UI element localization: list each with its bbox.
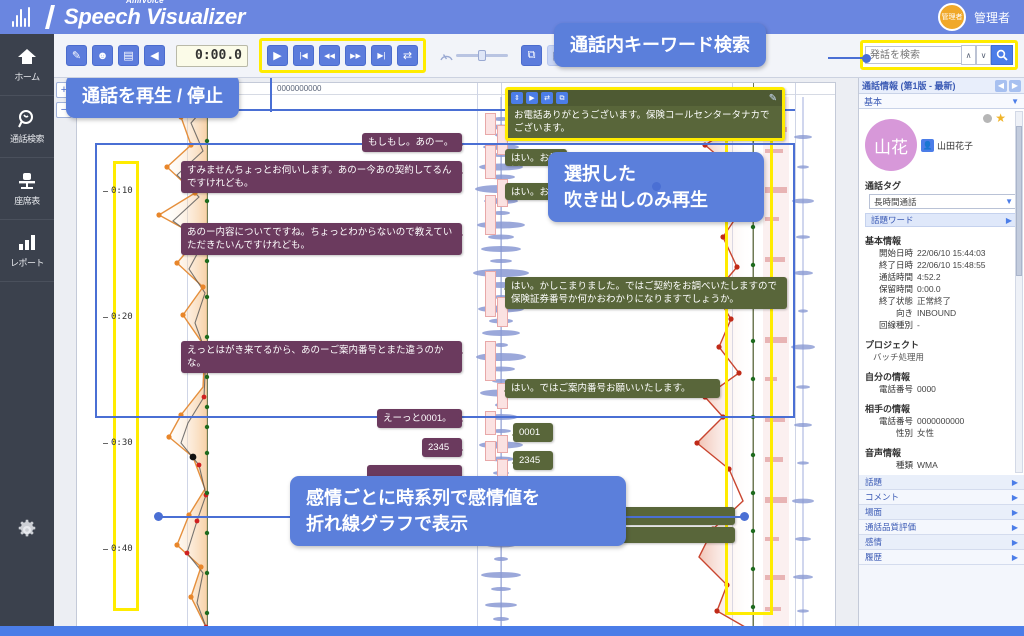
- transcript-bubble-customer[interactable]: あのー内容についてですね。ちょっとわからないので教えていただきたいんですけれども…: [181, 223, 462, 255]
- accordion-label: 場面: [865, 506, 882, 518]
- accordion-label: 感情: [865, 536, 882, 548]
- amivoice-subtitle: AmiVoice: [126, 0, 164, 5]
- search-box: ∧ ∨: [860, 40, 1018, 70]
- app-title: Speech Visualizer: [64, 5, 245, 29]
- bubble-toolbar: ⇕ ▶ ⇄ ⧉ ✎: [508, 90, 782, 106]
- info-key: 通話時間: [865, 271, 917, 283]
- person-chip: 👤 山田花子: [921, 139, 973, 152]
- player-toolbar: ✎ ☻ ▤ ◀ 0:00.0 ▶ |◀ ◀◀ ▶▶ ▶| ⇄ ⧉ ▤ ← → ∧…: [54, 34, 1024, 78]
- sidebar-item-label: レポート: [10, 256, 44, 269]
- bubble-text: 2345: [428, 442, 449, 453]
- chevron-right-icon: ▶: [1012, 553, 1018, 562]
- panel-scrollbar[interactable]: [1015, 111, 1023, 473]
- loop-bubble-button[interactable]: ⇄: [541, 92, 553, 104]
- volume-icon: [439, 49, 454, 63]
- basic-info-title: 基本情報: [865, 234, 1018, 247]
- search-next-button[interactable]: ∨: [976, 45, 991, 65]
- panel-title: 通話情報 (第1版 - 最新): [862, 79, 956, 92]
- info-value: INBOUND: [917, 307, 956, 319]
- face-button[interactable]: ☻: [92, 45, 113, 66]
- transcript-bubble-agent[interactable]: 0001: [513, 423, 553, 442]
- time-tick: [103, 443, 108, 444]
- accordion-comment[interactable]: コメント ▶: [859, 490, 1024, 505]
- transcript-bubble-customer[interactable]: 2345: [422, 438, 462, 457]
- panel-header: 通話情報 (第1版 - 最新) ◀ ▶: [859, 78, 1024, 94]
- call-search-icon: [17, 109, 37, 129]
- sidebar-item-home[interactable]: ホーム: [0, 34, 54, 96]
- utterance-marker[interactable]: [485, 441, 496, 461]
- info-key: 終了状態: [865, 295, 917, 307]
- report-bar-chart-icon: [17, 233, 37, 253]
- user-block[interactable]: 管理者 管理者: [938, 3, 1010, 31]
- callout-anchor-dot: [154, 512, 163, 521]
- avatar: 山花: [865, 119, 917, 171]
- callout-anchor-dot: [652, 182, 661, 191]
- info-value: 正常終了: [917, 295, 951, 307]
- app-title-visualizer: Visualizer: [146, 4, 245, 29]
- info-row: 通話時間4:52.2: [865, 271, 1018, 283]
- callout-leader: [158, 516, 294, 518]
- info-value: 22/06/10 15:44:03: [917, 247, 986, 259]
- info-value: 4:52.2: [917, 271, 941, 283]
- transcript-bubble-customer[interactable]: すみませんちょっとお伺いします。あのー今あの契約してるんですけれども。: [181, 161, 462, 193]
- agent-identity: 山花 👤 山田花子: [865, 119, 1018, 171]
- jump-end-button[interactable]: ▶|: [371, 45, 392, 66]
- chevron-right-icon: ▶: [1006, 216, 1012, 225]
- chevron-right-icon: ▶: [1012, 493, 1018, 502]
- info-value: 女性: [917, 427, 934, 439]
- user-name-label: 管理者: [974, 9, 1010, 26]
- utterance-marker[interactable]: [485, 271, 496, 317]
- resize-handle[interactable]: ⇕: [511, 92, 523, 104]
- person-name-label: 山田花子: [937, 139, 973, 152]
- bubble-text: えーっと0001。: [383, 413, 452, 424]
- copy-bubble-button[interactable]: ⧉: [556, 92, 568, 104]
- call-info-panel: 通話情報 (第1版 - 最新) ◀ ▶ 基本 ▼ ★ 山花 👤 山田花子 通話タ…: [858, 78, 1024, 636]
- time-axis-label: 0:10: [111, 186, 133, 196]
- info-row: 種類WMA: [865, 459, 1018, 471]
- bubble-text: はい。ではご案内番号お願いいたします。: [511, 383, 691, 394]
- info-row: 性別女性: [865, 427, 1018, 439]
- info-value: 22/06/10 15:48:55: [917, 259, 986, 271]
- info-value: 0000000000: [917, 415, 964, 427]
- info-row: 回線種別-: [865, 319, 1018, 331]
- accordion-scene[interactable]: 場面 ▶: [859, 505, 1024, 520]
- utterance-marker[interactable]: [485, 341, 496, 381]
- bubble-text: お電話ありがとうございます。保険コールセンタータナカでございます。: [508, 106, 782, 138]
- accordion-label: 通話品質評価: [865, 521, 916, 533]
- app-header: AmiVoice Speech Visualizer 管理者 管理者: [0, 0, 1024, 34]
- topic-keyword-row[interactable]: 話題ワード ▶: [865, 213, 1018, 227]
- info-row: 保留時間0:00.0: [865, 283, 1018, 295]
- panel-scroll-area[interactable]: ★ 山花 👤 山田花子 通話タグ 長時間通話 ▼ 話題ワード ▶ 基本情報 開始…: [859, 109, 1024, 475]
- waveform-logo-icon: [12, 5, 46, 29]
- seating-chart-icon: [17, 171, 37, 191]
- sidebar-item-label: ホーム: [14, 70, 39, 83]
- chevron-down-icon: ▼: [1005, 197, 1013, 206]
- callout-play-stop: 通話を再生 / 停止: [66, 78, 239, 118]
- info-key: 終了日時: [865, 259, 917, 271]
- volume-slider[interactable]: [456, 54, 508, 57]
- sidebar-item-label: 通話検索: [10, 132, 44, 145]
- gear-icon[interactable]: [0, 510, 54, 550]
- transcript-bubble-agent[interactable]: はい。ではご案内番号お願いいたします。: [505, 379, 720, 398]
- info-key: 回線種別: [865, 319, 917, 331]
- time-axis-label: 0:30: [111, 438, 133, 448]
- note-button[interactable]: ▤: [118, 45, 139, 66]
- time-axis-label: 0:40: [111, 544, 133, 554]
- project-value: バッチ処理用: [865, 351, 1018, 363]
- utterance-marker[interactable]: [485, 195, 496, 235]
- scrollbar-thumb[interactable]: [1016, 126, 1022, 276]
- call-tag-value: 長時間通話: [874, 196, 917, 208]
- time-tick: [103, 549, 108, 550]
- accordion-label: コメント: [865, 491, 899, 503]
- accordion-topic[interactable]: 話題 ▶: [859, 475, 1024, 490]
- transcript-bubble-customer[interactable]: もしもし。あのー。: [362, 133, 462, 152]
- accordion-call-quality[interactable]: 通話品質評価 ▶: [859, 520, 1024, 535]
- callout-keyword-search: 通話内キーワード検索: [554, 23, 766, 67]
- section-basic-toggle[interactable]: 基本 ▼: [859, 94, 1024, 109]
- accordion-history[interactable]: 履歴 ▶: [859, 550, 1024, 565]
- utterance-marker[interactable]: [485, 113, 496, 135]
- bubble-text: あのー内容についてですね。ちょっとわからないので教えていただきたいんですけれども…: [187, 227, 452, 251]
- volume-control[interactable]: [439, 49, 508, 63]
- bubble-text: もしもし。あのー。: [368, 137, 453, 148]
- callout-emotion-graph: 感情ごとに時系列で感情値を 折れ線グラフで表示: [290, 476, 626, 546]
- section-basic-label: 基本: [864, 95, 882, 108]
- next-version-button[interactable]: ▶: [1009, 80, 1021, 92]
- avatar: 管理者: [938, 3, 966, 31]
- home-icon: [17, 47, 37, 67]
- sidebar-item-report[interactable]: レポート: [0, 220, 54, 282]
- info-row: 終了日時22/06/10 15:48:55: [865, 259, 1018, 271]
- info-key: 電話番号: [865, 415, 917, 427]
- bubble-text: すみませんちょっとお伺いします。あのー今あの契約してるんですけれども。: [187, 165, 451, 189]
- chevron-right-icon: ▶: [1012, 538, 1018, 547]
- volume-knob[interactable]: [478, 50, 486, 61]
- callout-anchor-dot: [862, 54, 871, 63]
- chevron-right-icon: ▶: [1012, 508, 1018, 517]
- utterance-marker[interactable]: [485, 411, 496, 435]
- status-badges: ★: [983, 113, 1006, 123]
- info-key: 種類: [865, 459, 917, 471]
- utterance-marker[interactable]: [485, 145, 496, 179]
- fast-forward-button[interactable]: ▶▶: [345, 45, 366, 66]
- call-tag-select[interactable]: 長時間通話 ▼: [869, 194, 1018, 209]
- transcript-bubble-customer[interactable]: えーっと0001。: [377, 409, 462, 428]
- info-value: WMA: [917, 459, 938, 471]
- chevron-down-icon: ▼: [1011, 97, 1019, 106]
- info-row: 電話番号0000: [865, 383, 1018, 395]
- accordion-emotion[interactable]: 感情 ▶: [859, 535, 1024, 550]
- callout-leader: [626, 516, 744, 518]
- transcript-bubble-agent-selected[interactable]: ⇕ ▶ ⇄ ⧉ ✎ お電話ありがとうございます。保険コールセンタータナカでござい…: [505, 87, 785, 141]
- callout-anchor-dot: [740, 512, 749, 521]
- sidebar-item-call-search[interactable]: 通話検索: [0, 96, 54, 158]
- search-icon[interactable]: [991, 45, 1013, 65]
- info-row: 開始日時22/06/10 15:44:03: [865, 247, 1018, 259]
- callout-leader: [270, 78, 272, 112]
- person-icon: 👤: [921, 139, 934, 152]
- time-tick: [103, 191, 108, 192]
- speaker-button[interactable]: ◀: [144, 45, 165, 66]
- project-title: プロジェクト: [865, 338, 1018, 351]
- bubble-text: はい。かしこまりました。ではご契約をお調べいたしますので保険証券番号か何かおわか…: [511, 281, 777, 305]
- transport-controls: ▶ |◀ ◀◀ ▶▶ ▶| ⇄: [259, 38, 426, 73]
- edit-bubble-button[interactable]: ✎: [767, 92, 779, 104]
- accordion-label: 履歴: [865, 551, 882, 563]
- info-row: 電話番号0000000000: [865, 415, 1018, 427]
- info-key: 性別: [865, 427, 917, 439]
- play-button[interactable]: ▶: [267, 45, 288, 66]
- play-bubble-button[interactable]: ▶: [526, 92, 538, 104]
- topic-keyword-label: 話題ワード: [871, 214, 914, 226]
- app-logo: AmiVoice Speech Visualizer: [0, 5, 245, 29]
- info-row: 終了状態正常終了: [865, 295, 1018, 307]
- visualizer-canvas: + − 0000000000: [54, 78, 858, 636]
- info-key: 保留時間: [865, 283, 917, 295]
- transcript-bubble-agent[interactable]: はい。かしこまりました。ではご契約をお調べいたしますので保険証券番号か何かおわか…: [505, 277, 787, 309]
- bubble-text: 0001: [519, 427, 540, 438]
- info-value: 0:00.0: [917, 283, 941, 295]
- bubble-text: 2345: [519, 455, 540, 466]
- info-value: 0000: [917, 383, 936, 395]
- info-key: 開始日時: [865, 247, 917, 259]
- loop-button[interactable]: ⇄: [397, 45, 418, 66]
- pin-button[interactable]: ✎: [66, 45, 87, 66]
- jump-start-button[interactable]: |◀: [293, 45, 314, 66]
- sidebar-item-label: 座席表: [14, 194, 40, 207]
- info-row: 向きINBOUND: [865, 307, 1018, 319]
- info-key: 電話番号: [865, 383, 917, 395]
- bubble-text: えっとはがき来てるから、あのーご案内番号とまた違うのかな。: [187, 345, 444, 369]
- sidebar-item-seating-chart[interactable]: 座席表: [0, 158, 54, 220]
- footer-bar: [0, 626, 1024, 636]
- info-key: 向き: [865, 307, 917, 319]
- chevron-right-icon: ▶: [1012, 478, 1018, 487]
- status-dot-icon: [983, 114, 992, 123]
- self-info-title: 自分の情報: [865, 370, 1018, 383]
- prev-version-button[interactable]: ◀: [995, 80, 1007, 92]
- time-axis-label: 0:20: [111, 312, 133, 322]
- audio-info-title: 音声情報: [865, 446, 1018, 459]
- rewind-button[interactable]: ◀◀: [319, 45, 340, 66]
- accordion-label: 話題: [865, 476, 882, 488]
- transcript-bubble-customer[interactable]: えっとはがき来てるから、あのーご案内番号とまた違うのかな。: [181, 341, 462, 373]
- chevron-right-icon: ▶: [1012, 523, 1018, 532]
- time-tick: [103, 317, 108, 318]
- time-display: 0:00.0: [176, 45, 248, 67]
- copy-button[interactable]: ⧉: [521, 45, 542, 66]
- favorite-star-icon[interactable]: ★: [995, 113, 1006, 123]
- search-input[interactable]: [865, 46, 961, 64]
- other-info-title: 相手の情報: [865, 402, 1018, 415]
- info-value: -: [917, 319, 920, 331]
- sidebar: ホーム 通話検索 座席表 レポート: [0, 34, 54, 636]
- logo-slash-icon: [45, 5, 65, 29]
- transcript-bubble-agent[interactable]: 2345: [513, 451, 553, 470]
- call-tag-label: 通話タグ: [865, 179, 1018, 192]
- search-prev-button[interactable]: ∧: [961, 45, 976, 65]
- app-title-speech: Speech: [64, 4, 140, 29]
